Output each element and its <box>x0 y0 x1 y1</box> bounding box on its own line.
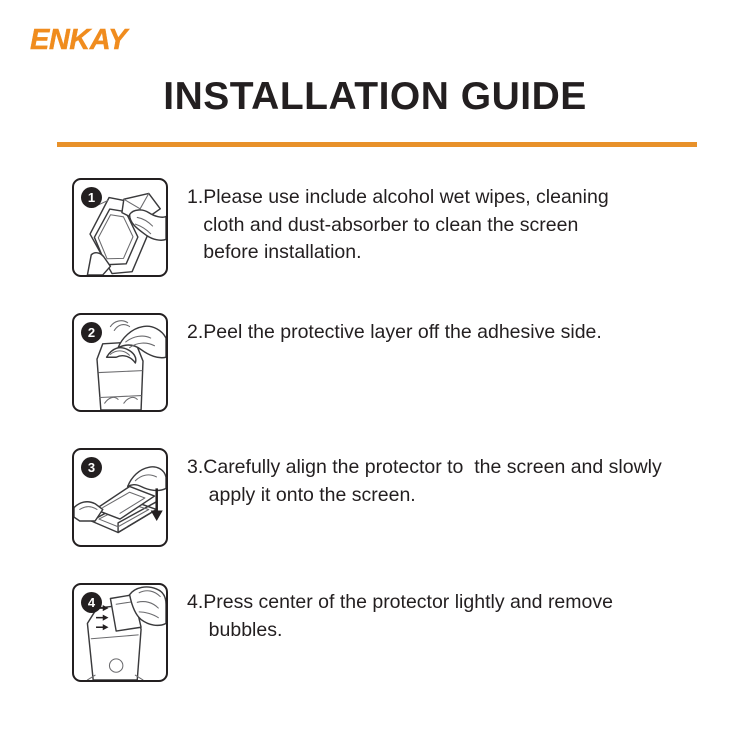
header-divider <box>57 142 697 147</box>
step-2-illustration: 2 <box>72 313 168 412</box>
step-instruction: 3.Carefully align the protector to the s… <box>187 454 662 509</box>
page-title: INSTALLATION GUIDE <box>0 76 750 119</box>
step-instruction: 2.Peel the protective layer off the adhe… <box>187 319 602 347</box>
step-item: 4 4.Press center of the protector lightl… <box>0 583 750 718</box>
step-number-badge: 2 <box>81 322 102 343</box>
step-1-illustration: 1 <box>72 178 168 277</box>
step-item: 3 3.Carefully align the protector to the… <box>0 448 750 583</box>
step-3-illustration: 3 <box>72 448 168 547</box>
brand-logo: ENKAY <box>30 26 127 55</box>
step-instruction: 4.Press center of the protector lightly … <box>187 589 613 644</box>
step-4-illustration: 4 <box>72 583 168 682</box>
step-item: 1 1.Please use include alcohol wet wipes… <box>0 178 750 313</box>
step-item: 2 2.Peel the protective layer off the ad… <box>0 313 750 448</box>
step-number-badge: 4 <box>81 592 102 613</box>
steps-list: 1 1.Please use include alcohol wet wipes… <box>0 178 750 718</box>
step-number-badge: 3 <box>81 457 102 478</box>
step-instruction: 1.Please use include alcohol wet wipes, … <box>187 184 609 267</box>
step-number-badge: 1 <box>81 187 102 208</box>
